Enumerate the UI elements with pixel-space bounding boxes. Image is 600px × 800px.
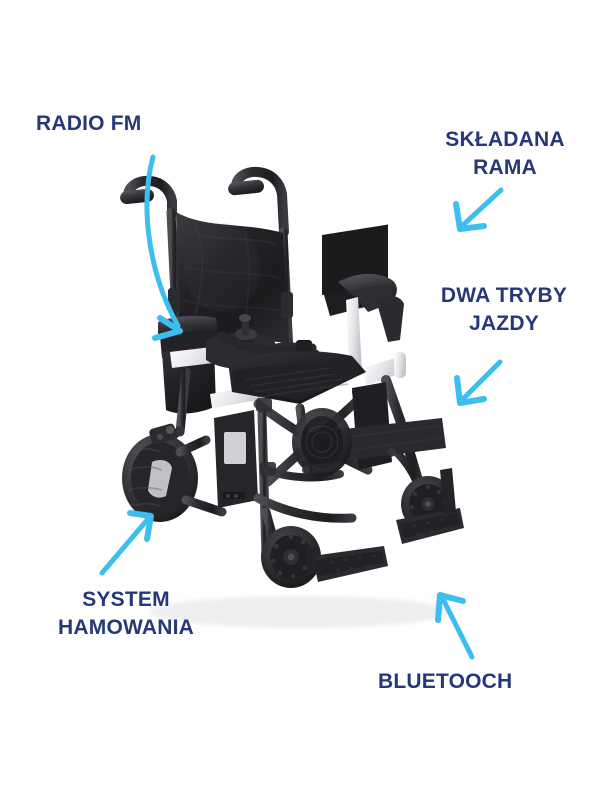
annotation-label-dwa-tryby-jazdy: DWA TRYBY JAZDY [418, 282, 590, 337]
rear-drive-wheel-left [122, 434, 222, 522]
backrest-adjuster-right [281, 292, 293, 318]
annotation-label-skladana-rama: SKŁADANA RAMA [420, 126, 590, 181]
annotation-label-radio-fm: RADIO FM [36, 110, 141, 138]
push-handle-left [119, 181, 172, 214]
battery-box [214, 410, 258, 508]
push-handle-right [227, 172, 284, 232]
annotation-label-system-hamowania: SYSTEM HAMOWANIA [16, 586, 236, 641]
annotated-product-image: RADIO FM SKŁADANA RAMA DWA TRYBY JAZDY S… [0, 0, 600, 800]
annotation-label-bluetooch: BLUETOOCH [378, 668, 512, 696]
rear-drive-wheel-right [292, 408, 352, 476]
backrest-adjuster-left [168, 288, 180, 312]
